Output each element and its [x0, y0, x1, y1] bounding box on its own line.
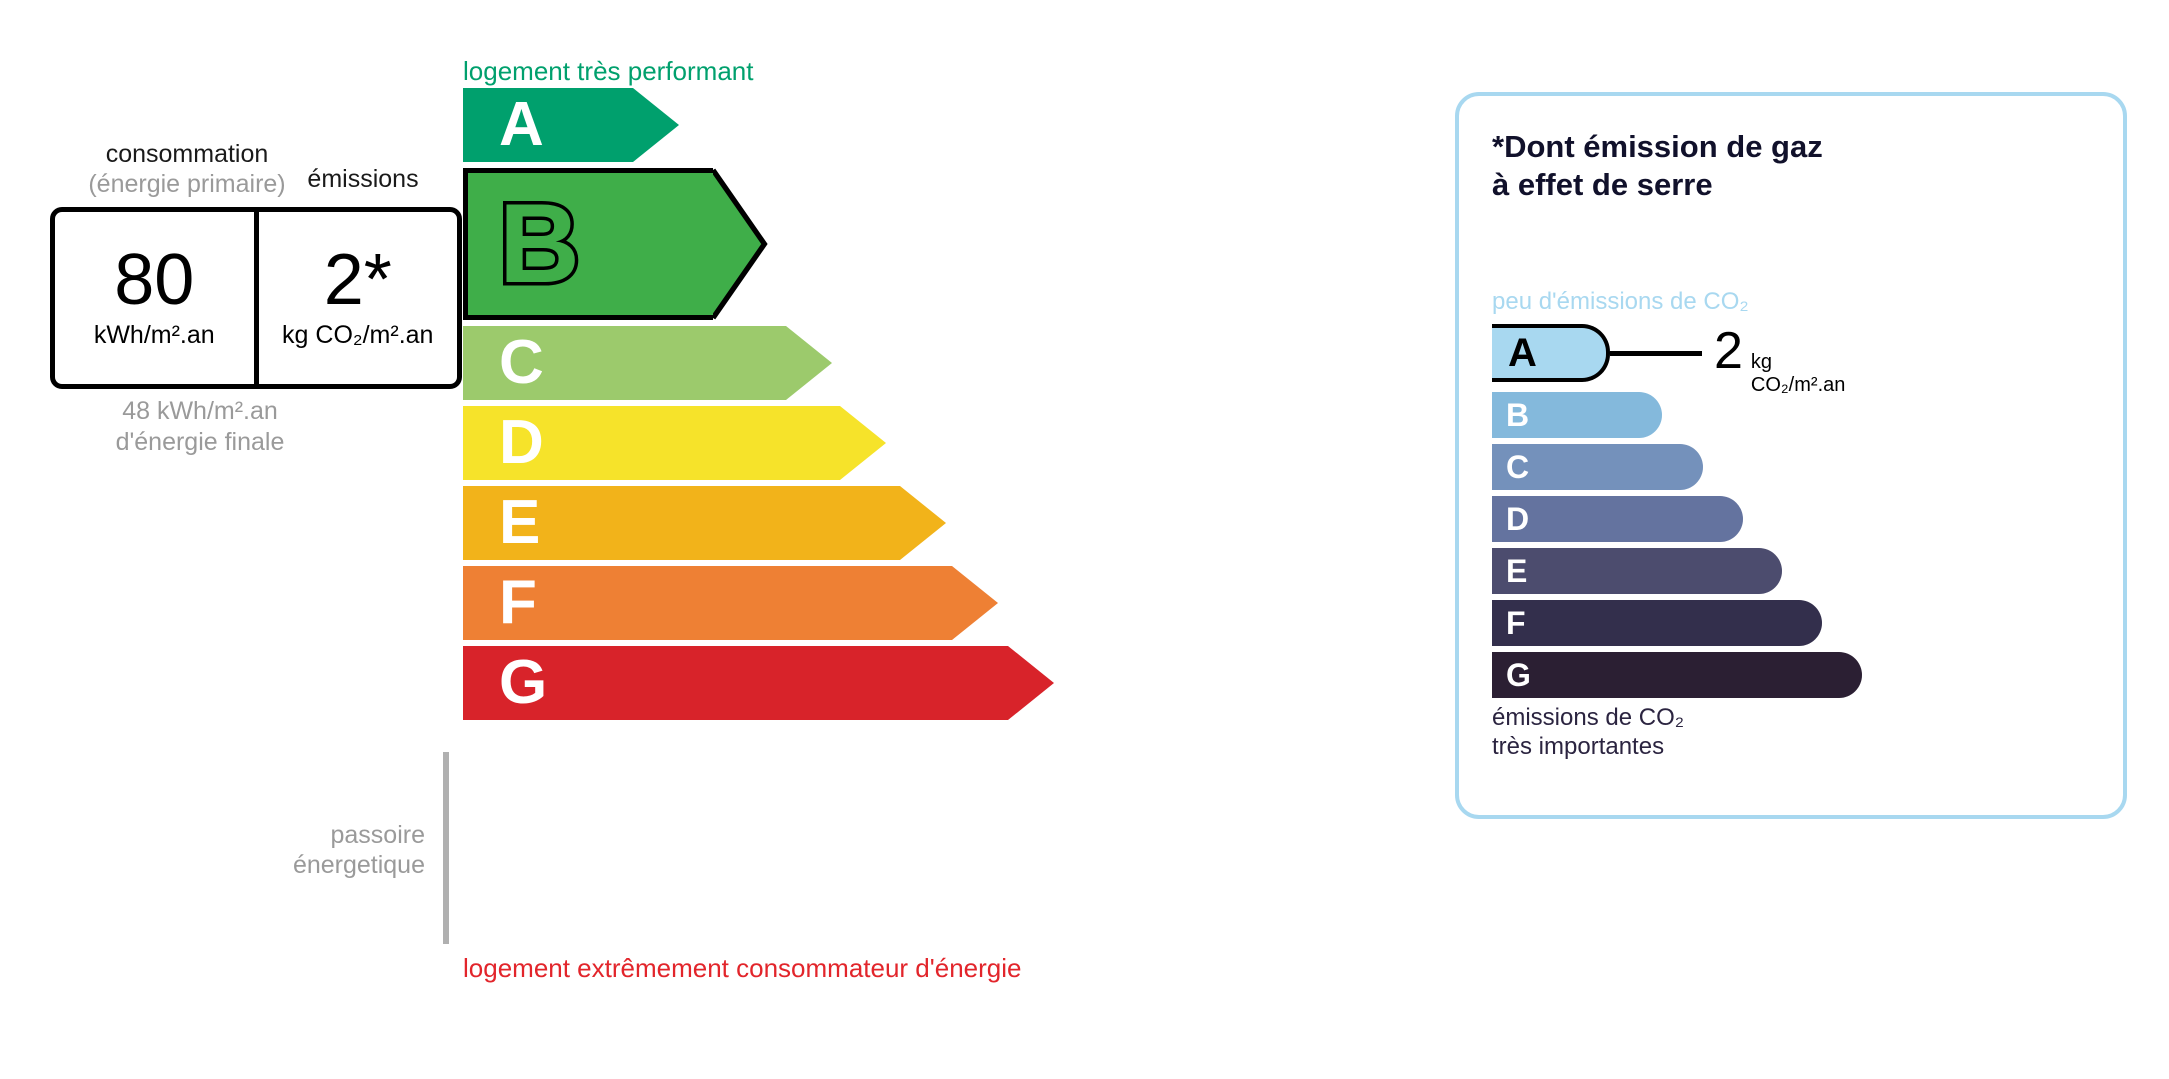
- energy-bar-row: A: [463, 88, 1008, 162]
- passoire-label-line1: passoire: [230, 820, 425, 850]
- co2-bar-e: E: [1492, 548, 1782, 594]
- energy-bar-f: F: [463, 566, 952, 640]
- final-energy-note: 48 kWh/m².an d'énergie finale: [50, 396, 350, 457]
- consumption-header: consommation (énergie primaire): [62, 140, 312, 199]
- co2-bottom-caption-line2: très importantes: [1492, 733, 1684, 762]
- energy-bar-letter: E: [499, 492, 540, 554]
- bar-arrow-tip: [633, 88, 679, 162]
- co2-emissions-panel: *Dont émission de gaz à effet de serre p…: [1455, 92, 2127, 819]
- energy-bar-d: D: [463, 406, 840, 480]
- bar-arrow-tip: [1008, 646, 1054, 720]
- passoire-label-line2: énergetique: [230, 850, 425, 880]
- consumption-unit: kWh/m².an: [94, 321, 215, 350]
- final-energy-value: 48 kWh/m².an: [50, 396, 350, 427]
- energy-bar-b: B: [463, 168, 713, 320]
- co2-bar-row: C: [1492, 444, 1862, 490]
- co2-bar-row: G: [1492, 652, 1862, 698]
- co2-class-bars: A2kg CO₂/m².anBCDEFG: [1492, 324, 1862, 704]
- co2-title-line2: à effet de serre: [1492, 166, 1823, 204]
- energy-bar-e: E: [463, 486, 900, 560]
- emissions-unit: kg CO₂/m².an: [282, 321, 433, 350]
- value-readout-box: 80 kWh/m².an 2* kg CO₂/m².an: [50, 207, 462, 389]
- energy-bar-letter: D: [499, 412, 544, 474]
- bar-arrow-tip: [900, 486, 946, 560]
- co2-panel-title: *Dont émission de gaz à effet de serre: [1492, 128, 1823, 204]
- energy-bar-letter: A: [499, 94, 544, 156]
- energy-bar-row: B: [463, 168, 1008, 320]
- co2-top-caption: peu d'émissions de CO₂: [1492, 288, 1749, 316]
- consumption-header-sub: (énergie primaire): [62, 170, 312, 200]
- bar-arrow-tip: [952, 566, 998, 640]
- emissions-value: 2*: [324, 246, 392, 315]
- energy-bar-row: D: [463, 406, 1008, 480]
- energy-bar-letter: G: [499, 652, 547, 714]
- co2-bar-row: F: [1492, 600, 1862, 646]
- energy-bar-row: G: [463, 646, 1008, 720]
- co2-bar-f: F: [1492, 600, 1822, 646]
- co2-bar-row: D: [1492, 496, 1862, 542]
- energy-bar-row: C: [463, 326, 1008, 400]
- energy-bar-row: F: [463, 566, 1008, 640]
- co2-value-unit: kg CO₂/m².an: [1751, 351, 1862, 397]
- energy-bar-letter: B: [499, 188, 580, 300]
- passoire-bracket: [443, 752, 449, 944]
- co2-value-annotation: 2kg CO₂/m².an: [1714, 324, 1862, 397]
- energy-bar-letter: C: [499, 332, 544, 394]
- final-energy-label: d'énergie finale: [50, 427, 350, 458]
- energy-bar-c: C: [463, 326, 786, 400]
- energy-bottom-caption: logement extrêmement consommateur d'éner…: [463, 953, 1021, 984]
- consumption-header-main: consommation: [106, 140, 269, 168]
- co2-bottom-caption: émissions de CO₂ très importantes: [1492, 704, 1684, 762]
- emissions-header: émissions: [293, 165, 433, 194]
- energy-performance-panel: logement très performant consommation (é…: [0, 0, 1400, 1079]
- bar-arrow-tip: [840, 406, 886, 480]
- energy-bar-row: E: [463, 486, 1008, 560]
- passoire-label: passoire énergetique: [230, 820, 425, 880]
- co2-title-line1: *Dont émission de gaz: [1492, 128, 1823, 166]
- co2-bar-row: B: [1492, 392, 1862, 438]
- energy-class-bars: ABCDEFG: [463, 88, 1008, 720]
- co2-bar-row: E: [1492, 548, 1862, 594]
- bar-arrow-tip: [786, 326, 832, 400]
- energy-bar-a: A: [463, 88, 633, 162]
- energy-bar-g: G: [463, 646, 1008, 720]
- co2-bar-a: A: [1492, 324, 1610, 382]
- energy-top-caption: logement très performant: [463, 56, 753, 87]
- consumption-value-cell: 80 kWh/m².an: [55, 212, 259, 384]
- emissions-value-cell: 2* kg CO₂/m².an: [259, 212, 458, 384]
- co2-bar-g: G: [1492, 652, 1862, 698]
- co2-bar-b: B: [1492, 392, 1662, 438]
- co2-bar-c: C: [1492, 444, 1703, 490]
- co2-bar-row: A2kg CO₂/m².an: [1492, 324, 1862, 382]
- co2-bottom-caption-line1: émissions de CO₂: [1492, 704, 1684, 733]
- consumption-value: 80: [114, 246, 194, 315]
- co2-value-number: 2: [1714, 324, 1743, 379]
- bar-arrow-tip: [713, 168, 773, 320]
- dpe-label: logement très performant consommation (é…: [0, 0, 2169, 1079]
- co2-leader-line: [1610, 351, 1702, 356]
- co2-bar-d: D: [1492, 496, 1743, 542]
- energy-bar-letter: F: [499, 572, 537, 634]
